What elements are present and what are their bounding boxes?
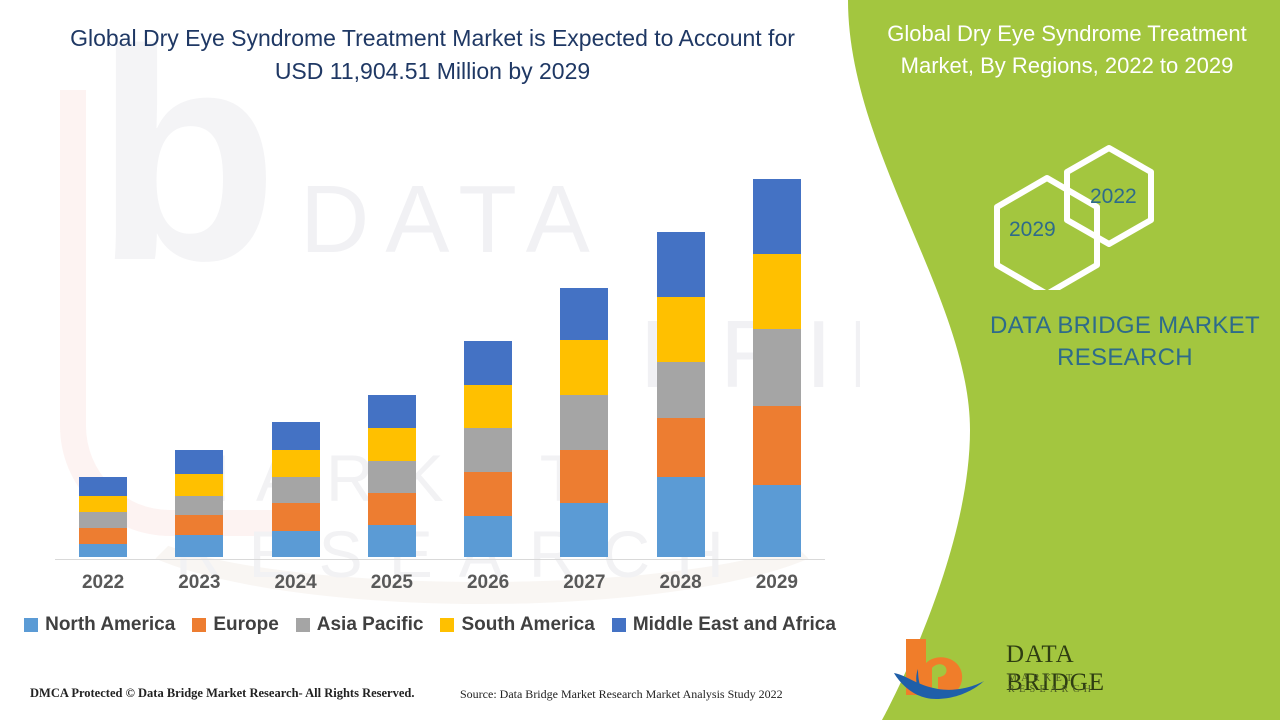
- hexagon-outlines: [985, 140, 1185, 290]
- x-axis-tick: 2029: [729, 572, 825, 594]
- panel-title: Global Dry Eye Syndrome Treatment Market…: [862, 18, 1272, 82]
- x-axis-tick: 2026: [440, 572, 536, 594]
- legend-swatch-icon: [296, 618, 310, 632]
- x-axis-tick: 2025: [344, 572, 440, 594]
- bar-segment: [464, 516, 512, 557]
- bar-segment: [272, 450, 320, 476]
- logo-tagline: MARKET RESEARCH: [1008, 673, 1118, 695]
- bar-segment: [79, 512, 127, 527]
- bar-segment: [368, 493, 416, 526]
- bar-stack: [464, 341, 512, 557]
- legend-label: South America: [461, 614, 594, 636]
- bar-segment: [560, 450, 608, 503]
- bar-segment: [175, 474, 223, 496]
- bar-segment: [368, 525, 416, 557]
- bar-segment: [560, 503, 608, 557]
- bar-stack: [560, 288, 608, 557]
- bar-segment: [657, 362, 705, 418]
- x-axis-labels: 20222023202420252026202720282029: [55, 572, 825, 594]
- bar-segment: [272, 422, 320, 450]
- legend-item[interactable]: Middle East and Africa: [612, 614, 836, 636]
- bar-column: [55, 150, 151, 557]
- chart-plot-area: [55, 150, 825, 560]
- bar-segment: [753, 406, 801, 484]
- legend-label: Europe: [213, 614, 278, 636]
- bar-stack: [175, 450, 223, 557]
- bar-segment: [272, 531, 320, 557]
- poster-root: b DATA BRIDGE MARKET RESEARCH Global Dry…: [0, 0, 1280, 720]
- bar-column: [344, 150, 440, 557]
- bar-segment: [79, 528, 127, 544]
- bar-stack: [368, 395, 416, 557]
- legend-swatch-icon: [24, 618, 38, 632]
- bar-segment: [464, 472, 512, 517]
- bar-segment: [753, 329, 801, 406]
- bar-segment: [560, 395, 608, 450]
- bar-segment: [560, 340, 608, 395]
- bar-segment: [175, 496, 223, 515]
- hexagon-label-end-year: 2029: [1009, 218, 1056, 242]
- bar-segment: [464, 341, 512, 385]
- page-title: Global Dry Eye Syndrome Treatment Market…: [60, 22, 805, 87]
- bar-stack: [657, 232, 705, 557]
- bar-segment: [560, 288, 608, 340]
- legend-item[interactable]: Europe: [192, 614, 278, 636]
- bar-column: [440, 150, 536, 557]
- bar-segment: [272, 503, 320, 530]
- bar-segment: [175, 450, 223, 473]
- x-axis-tick: 2024: [248, 572, 344, 594]
- chart-legend: North AmericaEuropeAsia PacificSouth Ame…: [0, 614, 860, 636]
- bar-column: [633, 150, 729, 557]
- legend-swatch-icon: [192, 618, 206, 632]
- bar-segment: [79, 544, 127, 557]
- legend-label: Asia Pacific: [317, 614, 424, 636]
- x-axis-tick: 2023: [151, 572, 247, 594]
- footer-source: Source: Data Bridge Market Research Mark…: [460, 687, 783, 702]
- bar-segment: [657, 232, 705, 296]
- bar-group: [55, 150, 825, 557]
- legend-label: North America: [45, 614, 175, 636]
- bar-stack: [272, 422, 320, 557]
- bar-segment: [368, 428, 416, 462]
- bar-column: [729, 150, 825, 557]
- legend-item[interactable]: North America: [24, 614, 175, 636]
- legend-swatch-icon: [612, 618, 626, 632]
- bar-segment: [175, 515, 223, 534]
- bar-segment: [753, 485, 801, 557]
- chart-pane: Global Dry Eye Syndrome Treatment Market…: [0, 0, 860, 720]
- bar-segment: [657, 297, 705, 362]
- bar-segment: [657, 418, 705, 477]
- bar-segment: [272, 477, 320, 503]
- hexagon-badges: 2022 2029: [985, 140, 1185, 290]
- bar-column: [151, 150, 247, 557]
- x-axis-line: [55, 559, 825, 560]
- bar-segment: [79, 477, 127, 496]
- legend-label: Middle East and Africa: [633, 614, 836, 636]
- legend-item[interactable]: Asia Pacific: [296, 614, 424, 636]
- bar-segment: [753, 179, 801, 254]
- bar-segment: [753, 254, 801, 329]
- bar-stack: [79, 477, 127, 557]
- bar-segment: [657, 477, 705, 557]
- bar-stack: [753, 179, 801, 557]
- bar-column: [536, 150, 632, 557]
- legend-swatch-icon: [440, 618, 454, 632]
- hexagon-label-start-year: 2022: [1090, 185, 1137, 209]
- legend-item[interactable]: South America: [440, 614, 594, 636]
- x-axis-tick: 2027: [536, 572, 632, 594]
- bar-segment: [464, 428, 512, 472]
- bar-segment: [464, 385, 512, 428]
- brand-name: DATA BRIDGE MARKET RESEARCH: [960, 310, 1280, 375]
- bar-segment: [368, 461, 416, 493]
- bar-segment: [368, 395, 416, 428]
- bar-segment: [79, 496, 127, 512]
- company-logo: DATA BRIDGE MARKET RESEARCH: [888, 633, 1118, 703]
- x-axis-tick: 2022: [55, 572, 151, 594]
- bar-segment: [175, 535, 223, 557]
- bar-column: [248, 150, 344, 557]
- x-axis-tick: 2028: [633, 572, 729, 594]
- footer-copyright: DMCA Protected © Data Bridge Market Rese…: [30, 686, 415, 701]
- logo-mark-icon: [888, 633, 998, 699]
